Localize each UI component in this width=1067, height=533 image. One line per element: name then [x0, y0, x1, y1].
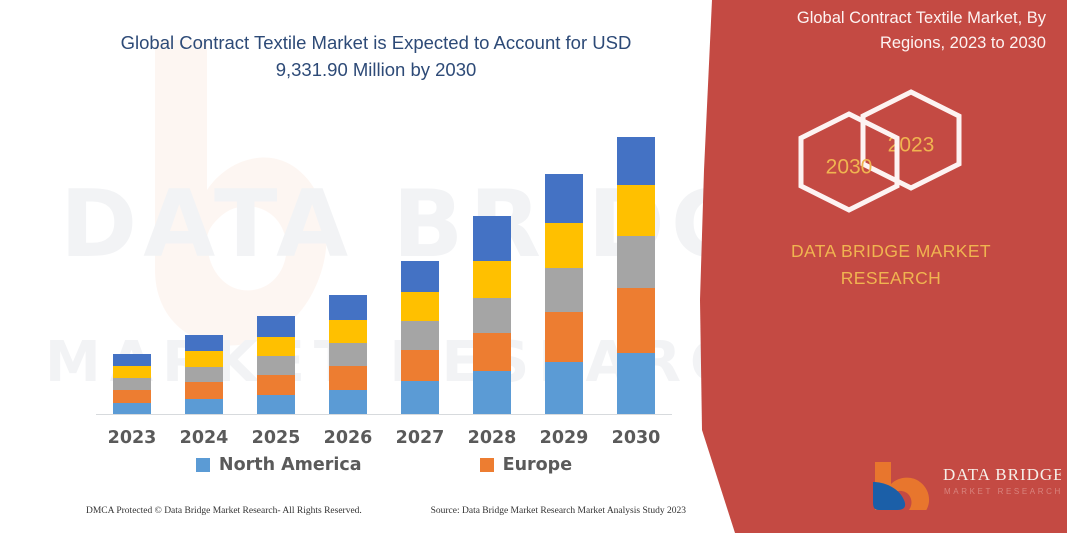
- logo-tagline: MARKET RESEARCH: [944, 487, 1061, 496]
- bar-segment-series-5: [257, 316, 295, 337]
- bar-column-2025: [240, 120, 312, 415]
- bar-column-2024: [168, 120, 240, 415]
- bar-segment-series-4: [257, 337, 295, 356]
- bar-segment-north-america: [545, 362, 583, 415]
- bar-segment-europe: [185, 382, 223, 399]
- stacked-bar: [185, 335, 223, 415]
- brand-panel: Global Contract Textile Market, By Regio…: [686, 0, 1067, 533]
- data-bridge-logo: DATA BRIDGE MARKET RESEARCH: [871, 458, 1061, 510]
- brand-name-line-1: DATA BRIDGE MARKET: [746, 238, 1036, 265]
- logo-b-mark: [873, 462, 929, 510]
- x-axis-label-2026: 2026: [312, 428, 384, 448]
- bar-segment-north-america: [257, 395, 295, 415]
- x-axis-label-2029: 2029: [528, 428, 600, 448]
- legend-swatch-europe: [480, 458, 494, 472]
- footer-copyright: DMCA Protected © Data Bridge Market Rese…: [86, 506, 362, 516]
- legend-swatch-north-america: [196, 458, 210, 472]
- x-axis-label-2030: 2030: [600, 428, 672, 448]
- bar-segment-europe: [257, 375, 295, 395]
- legend-item-europe[interactable]: Europe: [480, 455, 572, 475]
- bar-segment-north-america: [473, 371, 511, 415]
- bar-segment-series-3: [185, 367, 223, 382]
- bar-segment-europe: [473, 333, 511, 371]
- chart-legend: North AmericaEurope: [96, 455, 672, 475]
- bar-segment-series-5: [401, 261, 439, 292]
- bar-segment-series-5: [545, 174, 583, 223]
- stacked-bar: [113, 354, 151, 415]
- bar-column-2028: [456, 120, 528, 415]
- bar-segment-europe: [617, 288, 655, 353]
- stacked-bar: [545, 174, 583, 415]
- chart-title: Global Contract Textile Market is Expect…: [96, 30, 656, 84]
- chart-panel: DATA BRIDGE MARKET RESEARCH Global Contr…: [0, 0, 740, 533]
- panel-title: Global Contract Textile Market, By Regio…: [736, 6, 1046, 56]
- x-axis-label-2024: 2024: [168, 428, 240, 448]
- x-axis-label-2027: 2027: [384, 428, 456, 448]
- bar-column-2029: [528, 120, 600, 415]
- x-axis-label-2028: 2028: [456, 428, 528, 448]
- bar-segment-series-4: [401, 292, 439, 321]
- brand-name: DATA BRIDGE MARKET RESEARCH: [746, 238, 1036, 292]
- bar-segment-north-america: [185, 399, 223, 415]
- stacked-bar: [617, 137, 655, 415]
- bar-segment-europe: [545, 312, 583, 362]
- bar-segment-series-3: [257, 356, 295, 375]
- bar-segment-series-3: [401, 321, 439, 350]
- bar-column-2023: [96, 120, 168, 415]
- bar-segment-series-4: [113, 366, 151, 378]
- legend-label: North America: [219, 455, 362, 475]
- x-axis-line: [96, 414, 672, 415]
- bar-group: [96, 120, 672, 415]
- bar-segment-series-3: [617, 236, 655, 288]
- plot-area: [96, 120, 672, 415]
- hexagon-pair: 2023 2030: [791, 88, 991, 213]
- bar-segment-series-3: [329, 343, 367, 366]
- infographic-canvas: DATA BRIDGE MARKET RESEARCH Global Contr…: [0, 0, 1067, 533]
- legend-label: Europe: [503, 455, 572, 475]
- bar-segment-europe: [329, 366, 367, 390]
- bar-segment-series-4: [617, 185, 655, 236]
- bar-segment-series-5: [113, 354, 151, 366]
- bar-segment-series-3: [545, 268, 583, 312]
- footer-source: Source: Data Bridge Market Research Mark…: [431, 506, 686, 516]
- bar-segment-series-4: [329, 320, 367, 343]
- stacked-bar: [473, 216, 511, 415]
- bar-segment-europe: [401, 350, 439, 381]
- bar-segment-series-5: [185, 335, 223, 351]
- bar-segment-series-4: [545, 223, 583, 268]
- bar-segment-europe: [113, 390, 151, 403]
- hexagon-2030-label: 2030: [826, 156, 873, 179]
- bar-segment-series-5: [473, 216, 511, 261]
- stacked-bar: [329, 295, 367, 415]
- bar-column-2027: [384, 120, 456, 415]
- x-axis-labels: 20232024202520262027202820292030: [96, 428, 672, 448]
- bar-segment-series-3: [473, 298, 511, 333]
- logo-wordmark: DATA BRIDGE: [943, 465, 1061, 484]
- x-axis-label-2023: 2023: [96, 428, 168, 448]
- footer: DMCA Protected © Data Bridge Market Rese…: [86, 506, 686, 516]
- bar-segment-north-america: [617, 353, 655, 415]
- bar-segment-north-america: [401, 381, 439, 415]
- bar-column-2026: [312, 120, 384, 415]
- bar-column-2030: [600, 120, 672, 415]
- legend-item-north-america[interactable]: North America: [196, 455, 362, 475]
- bar-segment-series-4: [185, 351, 223, 367]
- brand-name-line-2: RESEARCH: [746, 265, 1036, 292]
- stacked-bar: [401, 261, 439, 415]
- bar-segment-series-5: [617, 137, 655, 185]
- bar-segment-north-america: [329, 390, 367, 415]
- bar-segment-series-4: [473, 261, 511, 298]
- bar-segment-series-3: [113, 378, 151, 390]
- stacked-bar: [257, 316, 295, 415]
- bar-segment-series-5: [329, 295, 367, 320]
- x-axis-label-2025: 2025: [240, 428, 312, 448]
